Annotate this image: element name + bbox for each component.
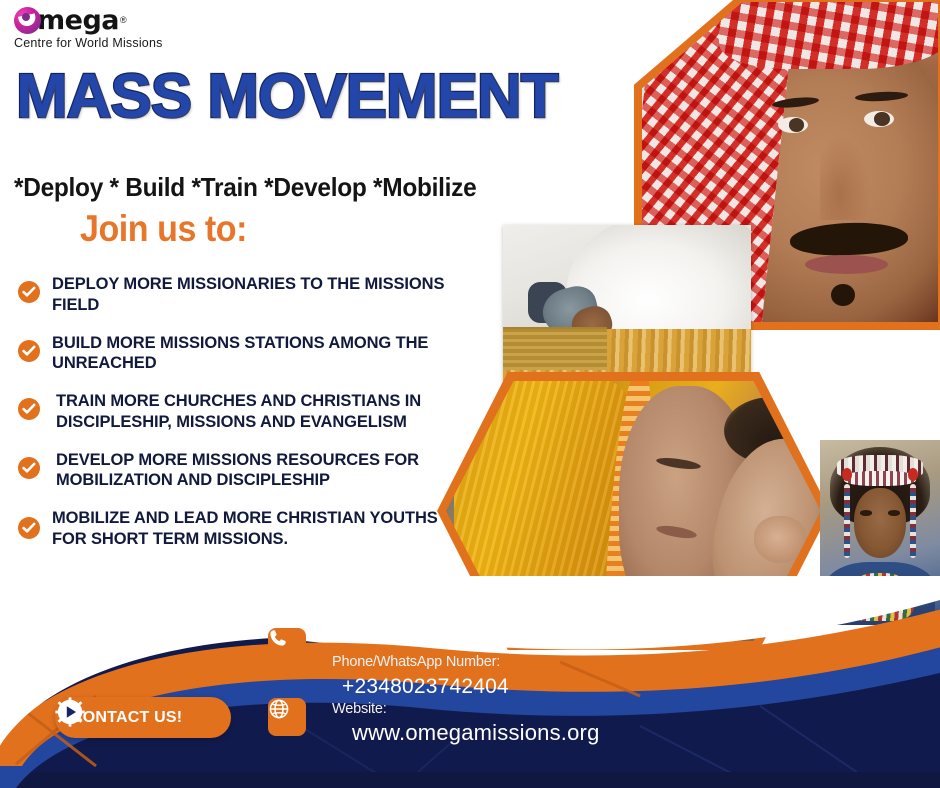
check-circle-icon [18, 281, 40, 303]
list-item: BUILD MORE MISSIONS STATIONS AMONG THE U… [18, 333, 468, 375]
logo-name-text: mega [37, 7, 119, 34]
subheading: *Deploy * Build *Train *Develop *Mobiliz… [14, 172, 476, 203]
list-item-label: TRAIN MORE CHURCHES AND CHRISTIANS IN DI… [52, 391, 468, 433]
logo-wordmark: mega ® [14, 6, 194, 34]
page-title: MASS MOVEMENT [16, 66, 558, 128]
phone-label: Phone/WhatsApp Number: [332, 653, 662, 673]
list-item-label: DEVELOP MORE MISSIONS RESOURCES FOR MOBI… [52, 450, 468, 492]
check-circle-icon [18, 517, 40, 539]
phone-icon-button[interactable] [268, 628, 306, 666]
registered-trademark-icon: ® [120, 16, 127, 25]
phone-icon [268, 628, 288, 648]
contact-us-label: CONTACT US! [71, 709, 182, 727]
photo-man-praying [503, 225, 751, 383]
globe-icon [268, 698, 290, 720]
website-value[interactable]: www.omegamissions.org [352, 719, 662, 748]
omega-logo-icon [14, 7, 41, 34]
phone-value[interactable]: +2348023742404 [342, 673, 662, 700]
list-item: DEVELOP MORE MISSIONS RESOURCES FOR MOBI… [18, 450, 468, 492]
contact-details: Phone/WhatsApp Number: +2348023742404 We… [332, 653, 662, 748]
list-item-label: BUILD MORE MISSIONS STATIONS AMONG THE U… [52, 333, 468, 375]
list-item: MOBILIZE AND LEAD MORE CHRISTIAN YOUTHS … [18, 508, 468, 550]
brand-logo: mega ® Centre for World Missions [14, 6, 194, 52]
list-item-label: MOBILIZE AND LEAD MORE CHRISTIAN YOUTHS … [52, 508, 468, 550]
website-icon-button[interactable] [268, 698, 306, 736]
benefits-list: DEPLOY MORE MISSIONARIES TO THE MISSIONS… [18, 274, 468, 567]
join-us-heading: Join us to: [80, 208, 247, 250]
flyer-poster: mega ® Centre for World Missions MASS MO… [0, 0, 940, 788]
check-circle-icon [18, 398, 40, 420]
check-circle-icon [18, 340, 40, 362]
footer-contact-band: CONTACT US! [0, 576, 940, 788]
website-label: Website: [332, 700, 662, 720]
contact-us-button[interactable]: CONTACT US! [55, 697, 231, 738]
list-item: TRAIN MORE CHURCHES AND CHRISTIANS IN DI… [18, 391, 468, 433]
list-item: DEPLOY MORE MISSIONARIES TO THE MISSIONS… [18, 274, 468, 316]
list-item-label: DEPLOY MORE MISSIONARIES TO THE MISSIONS… [52, 274, 468, 316]
check-circle-icon [18, 457, 40, 479]
brand-tagline: Centre for World Missions [14, 36, 194, 50]
